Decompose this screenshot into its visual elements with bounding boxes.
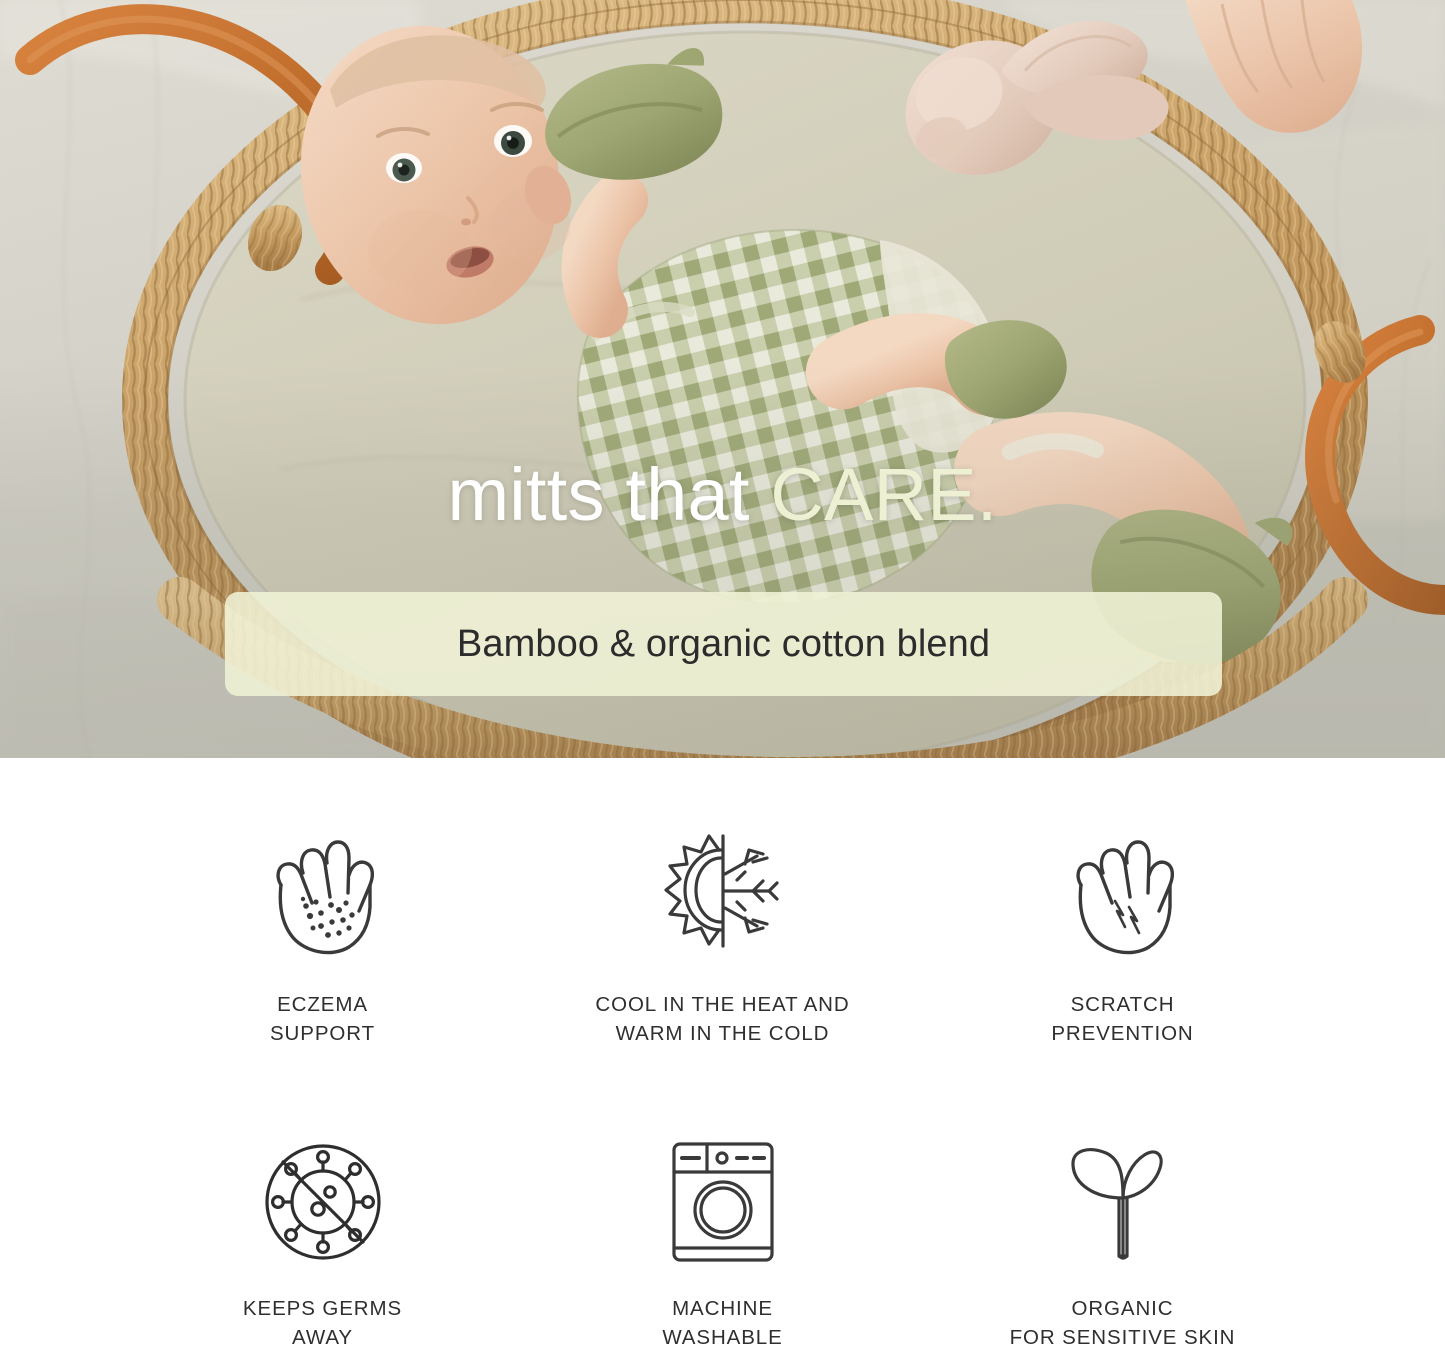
feature-label-temperature-regulating: COOL IN THE HEAT AND WARM IN THE COLD — [595, 990, 849, 1048]
hero-headline: mitts that CARE. — [0, 458, 1445, 532]
feature-label-scratch-prevention: SCRATCH PREVENTION — [1051, 990, 1193, 1048]
headline-accent-text: CARE. — [770, 453, 997, 536]
feature-label-eczema-support: ECZEMA SUPPORT — [270, 990, 375, 1048]
feature-organic-sensitive-skin: ORGANIC FOR SENSITIVE SKIN — [923, 1132, 1323, 1346]
sprout-leaf-icon — [1048, 1132, 1198, 1272]
hand-with-scratch-marks-icon — [1048, 824, 1198, 964]
headline-primary-text: mitts that — [447, 453, 770, 536]
washing-machine-icon — [648, 1132, 798, 1272]
feature-label-organic-sensitive-skin: ORGANIC FOR SENSITIVE SKIN — [1010, 1294, 1236, 1346]
product-feature-banner: mitts that CARE. Bamboo & organic cotton… — [0, 0, 1445, 1346]
feature-label-keeps-germs-away: KEEPS GERMS AWAY — [243, 1294, 402, 1346]
hand-with-rash-dots-icon — [248, 824, 398, 964]
feature-grid: ECZEMA SUPPORT — [0, 758, 1445, 1346]
feature-eczema-support: ECZEMA SUPPORT — [123, 824, 523, 1048]
feature-temperature-regulating: COOL IN THE HEAT AND WARM IN THE COLD — [523, 824, 923, 1048]
hero-section: mitts that CARE. Bamboo & organic cotton… — [0, 0, 1445, 758]
feature-row-2: KEEPS GERMS AWAY — [123, 1132, 1323, 1346]
feature-scratch-prevention: SCRATCH PREVENTION — [923, 824, 1323, 1048]
feature-label-machine-washable: MACHINE WASHABLE — [662, 1294, 782, 1346]
feature-machine-washable: MACHINE WASHABLE — [523, 1132, 923, 1346]
feature-keeps-germs-away: KEEPS GERMS AWAY — [123, 1132, 523, 1346]
sun-snowflake-icon — [648, 824, 798, 964]
subtitle-banner: Bamboo & organic cotton blend — [225, 592, 1222, 696]
no-germs-icon — [248, 1132, 398, 1272]
subtitle-banner-text: Bamboo & organic cotton blend — [457, 623, 990, 666]
feature-row-1: ECZEMA SUPPORT — [123, 824, 1323, 1048]
